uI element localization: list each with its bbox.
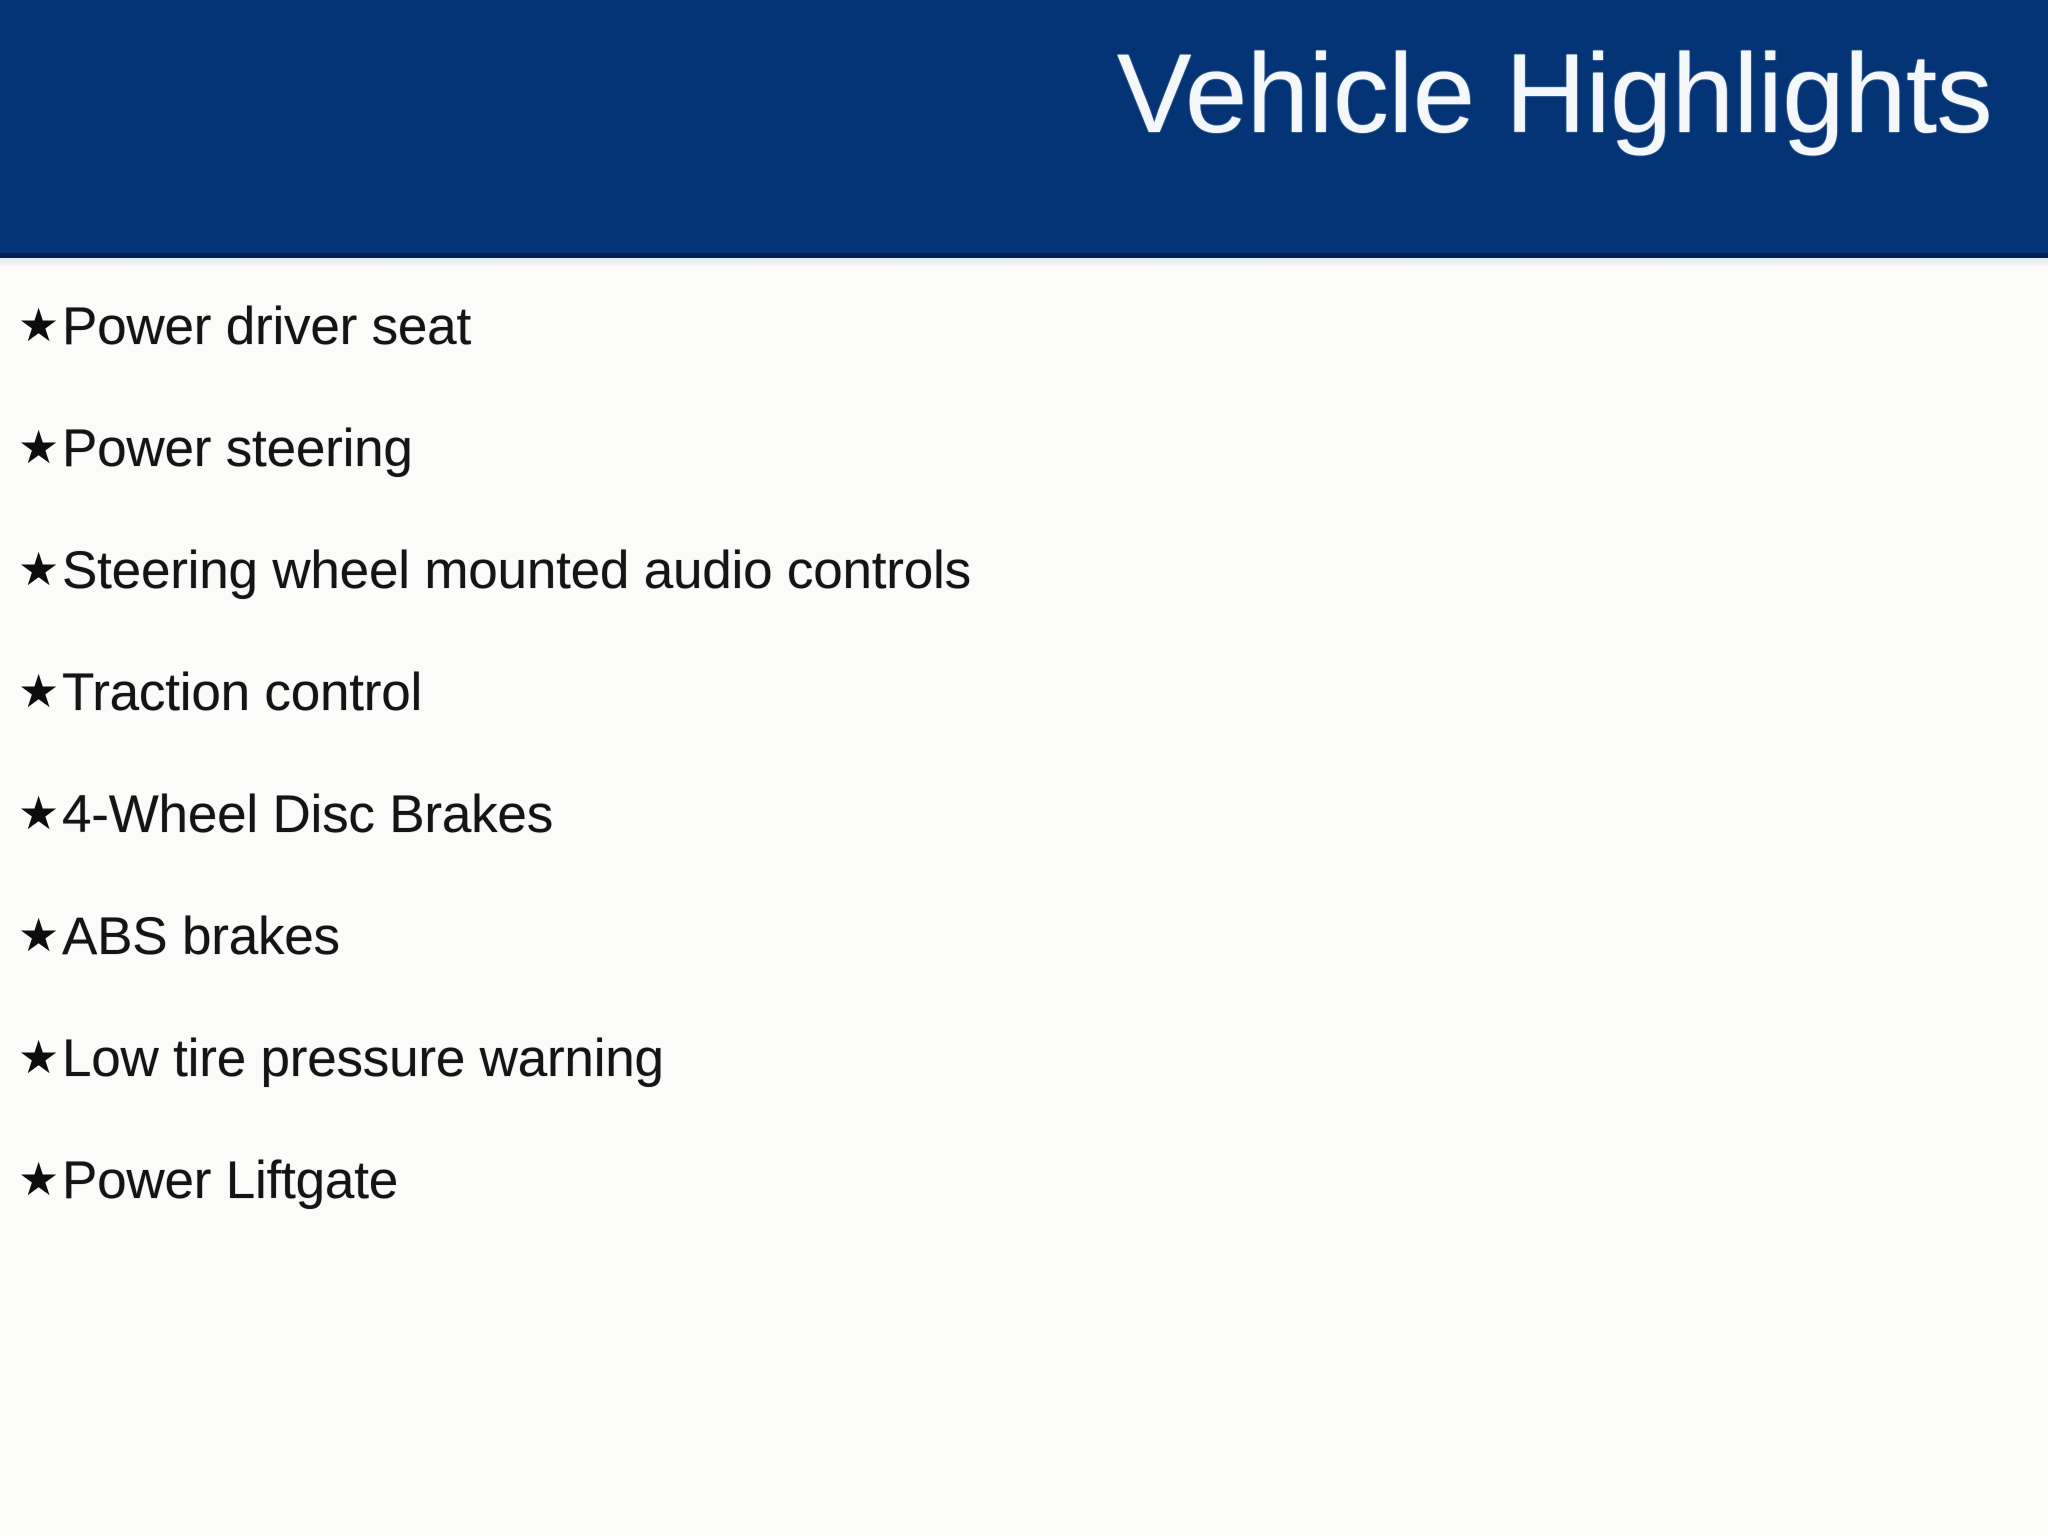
- header-bottom-seam: [0, 258, 2048, 266]
- list-item: ★ Traction control: [0, 632, 2048, 754]
- list-item: ★ Power driver seat: [0, 266, 2048, 388]
- page-title: Vehicle Highlights: [192, 28, 1992, 160]
- list-item-label: 4-Wheel Disc Brakes: [62, 786, 553, 844]
- list-item-label: ABS brakes: [62, 908, 340, 966]
- list-item: ★ Low tire pressure warning: [0, 998, 2048, 1120]
- list-item: ★ Steering wheel mounted audio controls: [0, 510, 2048, 632]
- star-bullet-icon: ★: [18, 1034, 62, 1080]
- star-bullet-icon: ★: [18, 302, 62, 348]
- list-item: ★ Power steering: [0, 388, 2048, 510]
- list-item-label: Power Liftgate: [62, 1152, 398, 1210]
- star-bullet-icon: ★: [18, 668, 62, 714]
- star-bullet-icon: ★: [18, 1156, 62, 1202]
- star-bullet-icon: ★: [18, 546, 62, 592]
- vehicle-highlights-list: ★ Power driver seat ★ Power steering ★ S…: [0, 266, 2048, 1242]
- list-item-label: Low tire pressure warning: [62, 1030, 664, 1088]
- star-bullet-icon: ★: [18, 424, 62, 470]
- list-item: ★ ABS brakes: [0, 876, 2048, 998]
- star-bullet-icon: ★: [18, 790, 62, 836]
- star-bullet-icon: ★: [18, 912, 62, 958]
- list-item: ★ Power Liftgate: [0, 1120, 2048, 1242]
- list-item-label: Power driver seat: [62, 298, 471, 356]
- list-item-label: Power steering: [62, 420, 413, 478]
- vehicle-highlights-slide: Vehicle Highlights ★ Power driver seat ★…: [0, 0, 2048, 1536]
- list-item-label: Traction control: [62, 664, 422, 722]
- list-item: ★ 4-Wheel Disc Brakes: [0, 754, 2048, 876]
- list-item-label: Steering wheel mounted audio controls: [62, 542, 971, 600]
